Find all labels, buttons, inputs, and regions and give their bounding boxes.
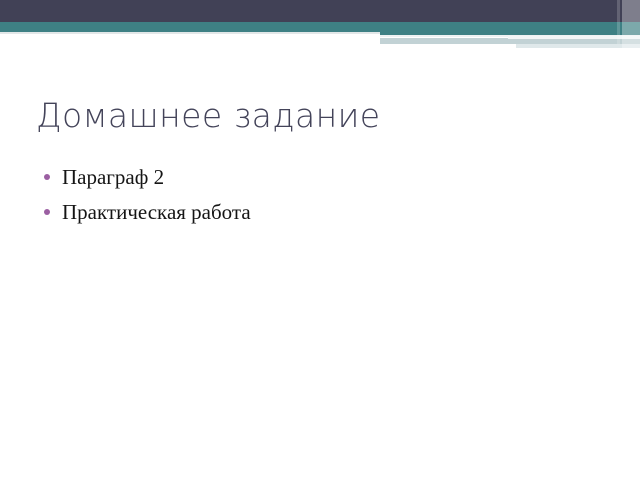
presentation-slide: Домашнее задание Параграф 2 Практическая… [0,0,640,480]
list-item-label: Параграф 2 [62,165,164,189]
banner-hairline-left [0,32,380,34]
slide-bullet-list: Параграф 2 Практическая работа [40,162,600,232]
bullet-dot-icon [44,174,50,180]
banner-dark-band [0,0,640,22]
slide-header-banner [0,0,640,52]
banner-right-overlay [622,0,640,52]
banner-right-gap [617,0,620,44]
slide-title: Домашнее задание [36,96,596,136]
list-item-label: Практическая работа [62,200,251,224]
bullet-dot-icon [44,209,50,215]
list-item: Параграф 2 [40,162,600,193]
banner-step-line-upper [508,36,640,39]
banner-teal-band-right [380,22,640,35]
list-item: Практическая работа [40,197,600,228]
